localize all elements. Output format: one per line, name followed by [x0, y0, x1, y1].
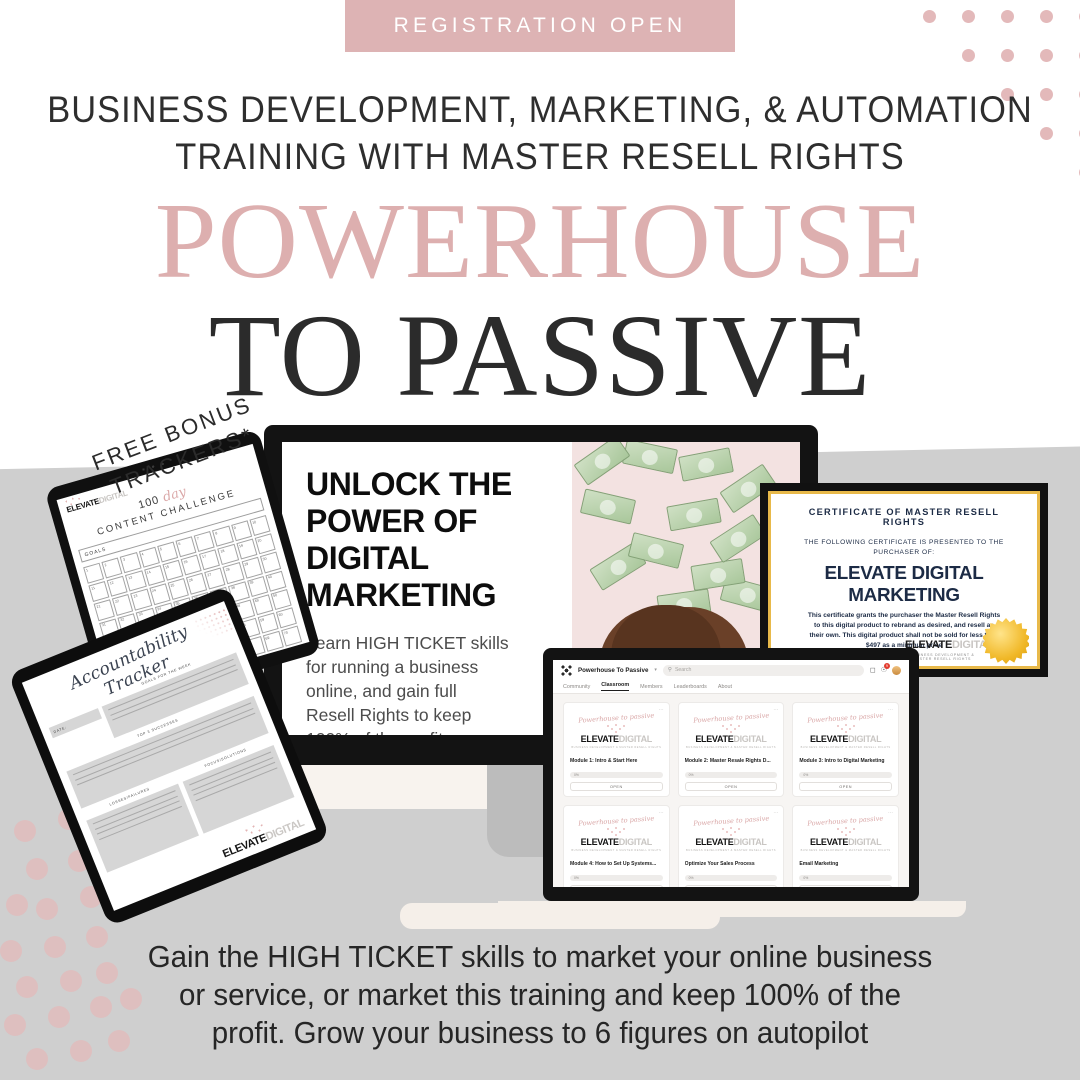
page-caption: Gain the HIGH TICKET skills to market yo… [108, 938, 973, 1052]
monitor-copy: UNLOCK THE POWER OF DIGITAL MARKETING Le… [282, 442, 572, 735]
brand-logo-icon [561, 665, 572, 676]
challenge-day-cell[interactable]: 7 [194, 531, 215, 552]
module-progress-bar: 0% [570, 772, 663, 778]
decorative-dot [0, 940, 22, 962]
challenge-day-cell[interactable]: 4 [139, 547, 160, 568]
laptop-screen: Powerhouse To Passive ▾ ⚲ Search ◻ ☉9 Co… [553, 660, 909, 887]
module-open-button[interactable]: OPEN [570, 782, 663, 791]
decorative-dot [962, 49, 975, 62]
course-topbar: Powerhouse To Passive ▾ ⚲ Search ◻ ☉9 [553, 660, 909, 680]
module-title: Module 2: Master Resale Rights D... [685, 758, 778, 764]
course-nav-tab-about[interactable]: About [718, 684, 732, 690]
search-placeholder: Search [675, 667, 691, 673]
notifications-icon[interactable]: ☉9 [881, 666, 887, 674]
certificate-presented-line-2: PURCHASER OF: [787, 548, 1021, 558]
monitor-body-line-3: online, and gain full [306, 679, 564, 703]
challenge-day-cell[interactable]: 17 [199, 549, 220, 570]
brand-dot-cluster-icon [835, 827, 857, 836]
challenge-day-cell[interactable]: 23 [131, 589, 152, 610]
decorative-dot [60, 970, 82, 992]
module-thumbnail: Powerhouse to passiveELEVATEDIGITALBUSIN… [685, 812, 778, 856]
decorative-dot [4, 1014, 26, 1036]
chevron-down-icon[interactable]: ▾ [654, 667, 657, 673]
decorative-dot [26, 1048, 48, 1070]
thumb-logo: ELEVATEDIGITAL [685, 734, 778, 744]
decorative-dot [44, 936, 66, 958]
thumb-logo: ELEVATEDIGITAL [570, 734, 663, 744]
module-progress-label: 0% [574, 773, 579, 777]
caption-line-1: Gain the HIGH TICKET skills to market yo… [108, 938, 973, 976]
registration-banner-label: REGISTRATION OPEN [394, 14, 687, 38]
challenge-day-cell[interactable]: 29 [241, 557, 262, 578]
monitor-body-copy: Learn HIGH TICKET skills for running a b… [306, 631, 564, 735]
thumb-logo-tagline: BUSINESS DEVELOPMENT & MASTER RESELL RIG… [570, 849, 663, 853]
challenge-day-cell[interactable]: 28 [223, 563, 244, 584]
monitor-heading-line-3: DIGITAL [306, 540, 564, 577]
decorative-dot [70, 1040, 92, 1062]
decorative-dot [923, 10, 936, 23]
module-progress-bar: 0% [799, 772, 892, 778]
module-progress-bar: 0% [799, 875, 892, 881]
module-title: Email Marketing [799, 861, 892, 867]
certificate-paper: CERTIFICATE OF MASTER RESELL RIGHTS THE … [771, 494, 1037, 666]
thumb-logo: ELEVATEDIGITAL [799, 837, 892, 847]
thumb-logo-tagline: BUSINESS DEVELOPMENT & MASTER RESELL RIG… [799, 746, 892, 750]
challenge-day-cell[interactable]: 12 [107, 576, 128, 597]
monitor-heading-line-1: UNLOCK THE [306, 466, 564, 503]
decorative-dot [1040, 10, 1053, 23]
decorative-dot [1040, 49, 1053, 62]
brand-dot-cluster-icon [605, 724, 627, 733]
decorative-dot [36, 898, 58, 920]
monitor-heading: UNLOCK THE POWER OF DIGITAL MARKETING [306, 466, 564, 614]
brand-dot-cluster-icon [720, 724, 742, 733]
subheadline-line-2: TRAINING WITH MASTER RESELL RIGHTS [38, 133, 1042, 180]
tracker-date-label: DATE: [53, 725, 67, 734]
laptop-base [498, 901, 966, 917]
module-thumbnail: Powerhouse to passiveELEVATEDIGITALBUSIN… [570, 812, 663, 856]
module-card[interactable]: ⋯Powerhouse to passiveELEVATEDIGITALBUSI… [792, 805, 899, 887]
course-nav-tab-community[interactable]: Community [563, 684, 590, 690]
certificate-presented-line-1: THE FOLLOWING CERTIFICATE IS PRESENTED T… [787, 538, 1021, 548]
thumb-logo: ELEVATEDIGITAL [570, 837, 663, 847]
module-thumbnail: Powerhouse to passiveELEVATEDIGITALBUSIN… [570, 709, 663, 753]
certificate-body-line-1: This certificate grants the purchaser th… [787, 611, 1021, 621]
thumb-logo-tagline: BUSINESS DEVELOPMENT & MASTER RESELL RIG… [685, 849, 778, 853]
challenge-day-cell[interactable]: 18 [218, 544, 239, 565]
laptop: Powerhouse To Passive ▾ ⚲ Search ◻ ☉9 Co… [543, 648, 919, 901]
course-nav-tab-leaderboards[interactable]: Leaderboards [674, 684, 707, 690]
notification-badge: 9 [884, 663, 890, 669]
course-nav-tab-classroom[interactable]: Classroom [601, 682, 629, 691]
chat-icon[interactable]: ◻ [870, 666, 876, 674]
certificate-title: CERTIFICATE OF MASTER RESELL RIGHTS [787, 507, 1021, 527]
brand-dot-cluster-icon [605, 827, 627, 836]
challenge-day-cell[interactable]: 26 [186, 573, 207, 594]
module-open-label: OPEN [839, 785, 852, 789]
search-input[interactable]: ⚲ Search [663, 665, 864, 676]
decorative-dot [16, 976, 38, 998]
challenge-goals-label: GOALS [84, 546, 107, 558]
challenge-day-cell[interactable]: 49 [252, 594, 273, 615]
module-progress-bar: 0% [685, 772, 778, 778]
monitor-body-line-5: 100% of the profit [306, 727, 564, 735]
caption-line-2: or service, or market this training and … [108, 976, 973, 1014]
module-title: Module 1: Intro & Start Here [570, 758, 663, 764]
module-progress-label: 0% [689, 773, 694, 777]
decorative-dot [962, 10, 975, 23]
challenge-day-cell[interactable]: 1 [83, 563, 104, 584]
thumb-logo: ELEVATEDIGITAL [799, 734, 892, 744]
decorative-dot [14, 820, 36, 842]
monitor-heading-line-2: POWER OF [306, 503, 564, 540]
certificate-presented-text: THE FOLLOWING CERTIFICATE IS PRESENTED T… [787, 538, 1021, 558]
challenge-day-cell[interactable]: 70 [281, 626, 302, 647]
decorative-dot [1001, 49, 1014, 62]
challenge-day-cell[interactable]: 69 [263, 631, 284, 652]
challenge-day-cell[interactable]: 11 [88, 581, 109, 602]
decorative-dot [1001, 10, 1014, 23]
promo-graphic: REGISTRATION OPEN BUSINESS DEVELOPMENT, … [0, 0, 1080, 1080]
challenge-day-cell[interactable]: 14 [144, 565, 165, 586]
module-open-label: OPEN [725, 785, 738, 789]
challenge-day-cell[interactable]: 10 [249, 515, 270, 536]
dollar-bill-icon [678, 447, 734, 481]
module-open-button[interactable]: OPEN [799, 782, 892, 791]
registration-banner: REGISTRATION OPEN [345, 0, 735, 52]
module-open-button[interactable]: OPEN [685, 782, 778, 791]
ruled-line [195, 767, 277, 801]
challenge-day-cell[interactable]: 59 [257, 613, 278, 634]
challenge-day-cell[interactable]: 27 [204, 568, 225, 589]
module-progress-bar: 0% [570, 875, 663, 881]
challenge-day-cell[interactable]: 19 [236, 539, 257, 560]
challenge-day-cell[interactable]: 16 [181, 555, 202, 576]
brand-dot-cluster-icon [720, 827, 742, 836]
challenge-day-cell[interactable]: 40 [265, 570, 286, 591]
challenge-day-cell[interactable]: 60 [276, 607, 297, 628]
dollar-bill-icon [574, 442, 631, 486]
challenge-day-cell[interactable]: 30 [260, 552, 281, 573]
module-title: Optimize Your Sales Process [685, 861, 778, 867]
thumb-logo-tagline: BUSINESS DEVELOPMENT & MASTER RESELL RIG… [685, 746, 778, 750]
challenge-day-cell[interactable]: 22 [112, 594, 133, 615]
module-open-button[interactable]: OPEN [799, 885, 892, 887]
module-card[interactable]: ⋯Powerhouse to passiveELEVATEDIGITALBUSI… [563, 702, 670, 797]
challenge-day-cell[interactable]: 24 [149, 584, 170, 605]
challenge-day-cell[interactable]: 2 [102, 557, 123, 578]
module-progress-label: 0% [689, 876, 694, 880]
decorative-dot [86, 926, 108, 948]
decorative-dot [26, 858, 48, 880]
challenge-day-cell[interactable]: 20 [255, 533, 276, 554]
thumb-logo: ELEVATEDIGITAL [685, 837, 778, 847]
challenge-day-cell[interactable]: 50 [270, 589, 291, 610]
module-thumbnail: Powerhouse to passiveELEVATEDIGITALBUSIN… [799, 812, 892, 856]
page-subheadline: BUSINESS DEVELOPMENT, MARKETING, & AUTOM… [38, 86, 1042, 180]
challenge-day-cell[interactable]: 6 [175, 536, 196, 557]
challenge-day-cell[interactable]: 13 [125, 571, 146, 592]
module-progress-label: 0% [574, 876, 579, 880]
challenge-day-cell[interactable]: 5 [157, 541, 178, 562]
module-progress-bar: 0% [685, 875, 778, 881]
page-title: POWERHOUSE TO PASSIVE [0, 190, 1080, 412]
challenge-day-cell[interactable]: 15 [162, 560, 183, 581]
topbar-icons: ◻ ☉9 [870, 666, 901, 675]
module-progress-label: 0% [803, 773, 808, 777]
module-title: Module 3: Intro to Digital Marketing [799, 758, 892, 764]
module-card[interactable]: ⋯Powerhouse to passiveELEVATEDIGITALBUSI… [792, 702, 899, 797]
decorative-dot [6, 894, 28, 916]
avatar[interactable] [892, 666, 901, 675]
module-open-label: OPEN [610, 785, 623, 789]
module-thumbnail: Powerhouse to passiveELEVATEDIGITALBUSIN… [685, 709, 778, 753]
certificate-product-name: ELEVATE DIGITAL MARKETING [785, 562, 1024, 606]
caption-line-3: profit. Grow your business to 6 figures … [108, 1014, 973, 1052]
title-line-powerhouse: POWERHOUSE [0, 190, 1080, 294]
monitor-body-line-1: Learn HIGH TICKET skills [306, 631, 564, 655]
course-nav-tabs: CommunityClassroomMembersLeaderboardsAbo… [553, 680, 909, 694]
dollar-bill-icon [666, 498, 722, 532]
module-open-button[interactable]: OPEN [685, 885, 778, 887]
certificate-gold-border: CERTIFICATE OF MASTER RESELL RIGHTS THE … [768, 491, 1040, 669]
module-card[interactable]: ⋯Powerhouse to passiveELEVATEDIGITALBUSI… [678, 702, 785, 797]
dollar-bill-icon [622, 442, 678, 474]
module-progress-label: 0% [803, 876, 808, 880]
thumb-logo-tagline: BUSINESS DEVELOPMENT & MASTER RESELL RIG… [570, 746, 663, 750]
course-brand-name: Powerhouse To Passive [578, 667, 648, 674]
module-card[interactable]: ⋯Powerhouse to passiveELEVATEDIGITALBUSI… [563, 805, 670, 887]
course-nav-tab-members[interactable]: Members [640, 684, 662, 690]
decorative-dot [48, 1006, 70, 1028]
challenge-day-cell[interactable]: 21 [94, 600, 115, 621]
module-card[interactable]: ⋯Powerhouse to passiveELEVATEDIGITALBUSI… [678, 805, 785, 887]
module-thumbnail: Powerhouse to passiveELEVATEDIGITALBUSIN… [799, 709, 892, 753]
challenge-day-cell[interactable]: 39 [247, 576, 268, 597]
monitor-body-line-2: for running a business [306, 655, 564, 679]
ruled-line [99, 806, 181, 840]
title-line-to-passive: TO PASSIVE [0, 300, 1080, 412]
challenge-day-cell[interactable]: 9 [231, 520, 252, 541]
subheadline-line-1: BUSINESS DEVELOPMENT, MARKETING, & AUTOM… [38, 86, 1042, 133]
search-icon: ⚲ [668, 667, 672, 673]
brand-dot-cluster-icon [835, 724, 857, 733]
classroom-module-grid: ⋯Powerhouse to passiveELEVATEDIGITALBUSI… [553, 694, 909, 887]
thumb-logo-tagline: BUSINESS DEVELOPMENT & MASTER RESELL RIG… [799, 849, 892, 853]
monitor-heading-line-4: MARKETING [306, 577, 564, 614]
challenge-day-cell[interactable]: 8 [212, 526, 233, 547]
challenge-day-cell[interactable]: 3 [120, 552, 141, 573]
dollar-bill-icon [580, 488, 636, 524]
monitor-body-line-4: Resell Rights to keep [306, 703, 564, 727]
module-open-button[interactable]: OPEN [570, 885, 663, 887]
module-title: Module 4: How to Set Up Systems... [570, 861, 663, 867]
challenge-day-cell[interactable]: 25 [168, 578, 189, 599]
